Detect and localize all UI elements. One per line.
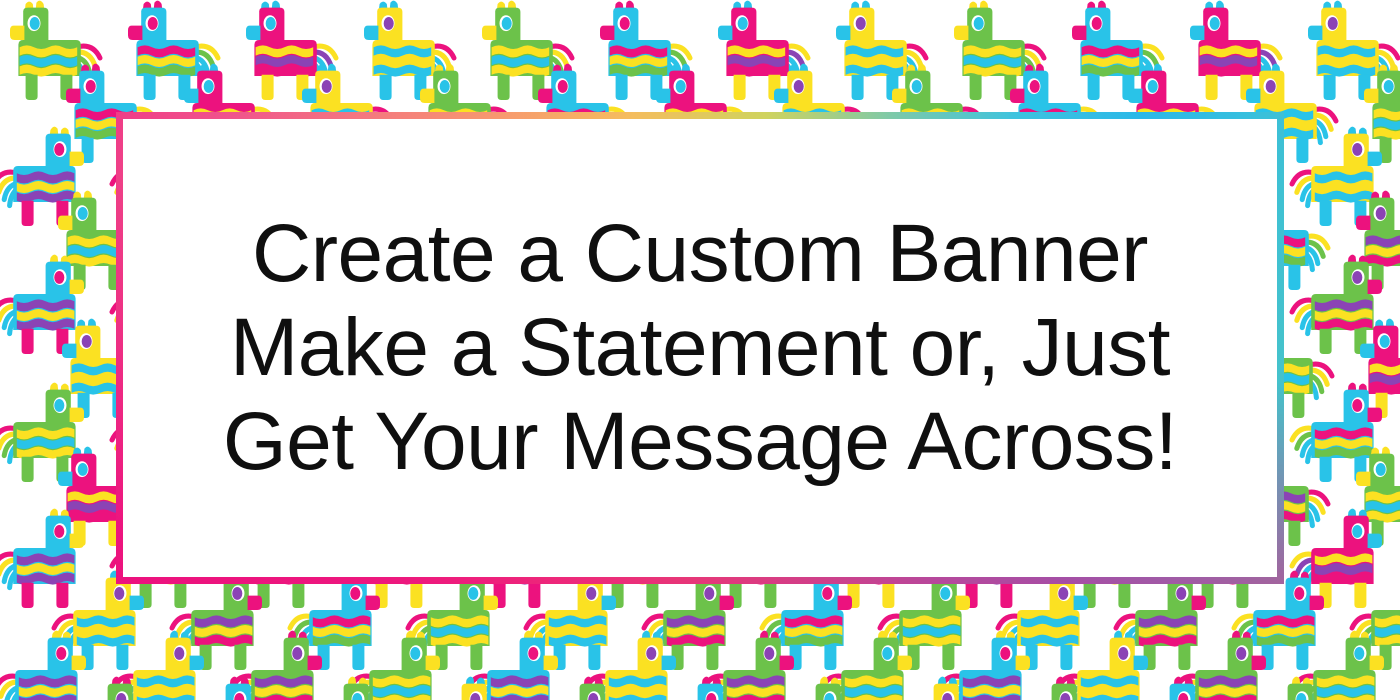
pinata-icon	[398, 668, 518, 700]
headline-line-2: Make a Statement or, Just	[230, 301, 1170, 395]
headline-line-1: Create a Custom Banner	[252, 207, 1148, 301]
pinata-icon	[0, 374, 102, 494]
pinata-icon	[700, 0, 820, 112]
message-frame: Create a Custom Banner Make a Statement …	[116, 112, 1284, 584]
pinata-icon	[44, 668, 164, 700]
pinata-icon	[0, 622, 104, 700]
pinata-icon	[634, 668, 754, 700]
pinata-icon	[1346, 55, 1400, 175]
pinata-icon	[456, 622, 576, 700]
pinata-icon	[220, 622, 340, 700]
pinata-icon	[810, 622, 930, 700]
pinata-icon	[1280, 118, 1400, 238]
pinata-icon	[0, 246, 102, 366]
pinata-icon	[988, 668, 1108, 700]
pinata-icon	[464, 0, 584, 112]
pinata-icon	[870, 668, 990, 700]
pinata-icon	[1054, 0, 1174, 112]
pinata-icon	[928, 622, 1048, 700]
pinata-icon	[228, 0, 348, 112]
pinata-icon	[1282, 622, 1400, 700]
pinata-icon	[338, 622, 458, 700]
pinata-icon	[1338, 182, 1400, 302]
pinata-icon	[1106, 668, 1226, 700]
pinata-icon	[752, 668, 872, 700]
pinata-icon	[110, 0, 230, 112]
pinata-icon	[1342, 310, 1400, 430]
pinata-icon	[1224, 668, 1344, 700]
pinata-icon	[1046, 622, 1166, 700]
pinata-icon	[1280, 500, 1400, 620]
headline-line-3: Get Your Message Across!	[223, 395, 1177, 489]
pinata-icon	[0, 500, 102, 620]
pinata-icon	[346, 0, 466, 112]
pinata-icon	[516, 668, 636, 700]
pinata-icon	[1338, 438, 1400, 558]
pinata-icon	[280, 668, 400, 700]
message-inner-panel: Create a Custom Banner Make a Statement …	[123, 119, 1277, 577]
pinata-icon	[818, 0, 938, 112]
banner-canvas: Create a Custom Banner Make a Statement …	[0, 0, 1400, 700]
pinata-icon	[102, 622, 222, 700]
pinata-icon	[1280, 374, 1400, 494]
pinata-icon	[692, 622, 812, 700]
pinata-icon	[574, 622, 694, 700]
pinata-icon	[0, 118, 102, 238]
pinata-icon	[162, 668, 282, 700]
pinata-icon	[1342, 668, 1400, 700]
pinata-icon	[0, 0, 112, 112]
pinata-icon	[1172, 0, 1292, 112]
pinata-icon	[582, 0, 702, 112]
pinata-icon	[1280, 246, 1400, 366]
pinata-icon	[1340, 562, 1400, 682]
pinata-icon	[1290, 0, 1400, 112]
pinata-icon	[936, 0, 1056, 112]
pinata-icon	[1164, 622, 1284, 700]
